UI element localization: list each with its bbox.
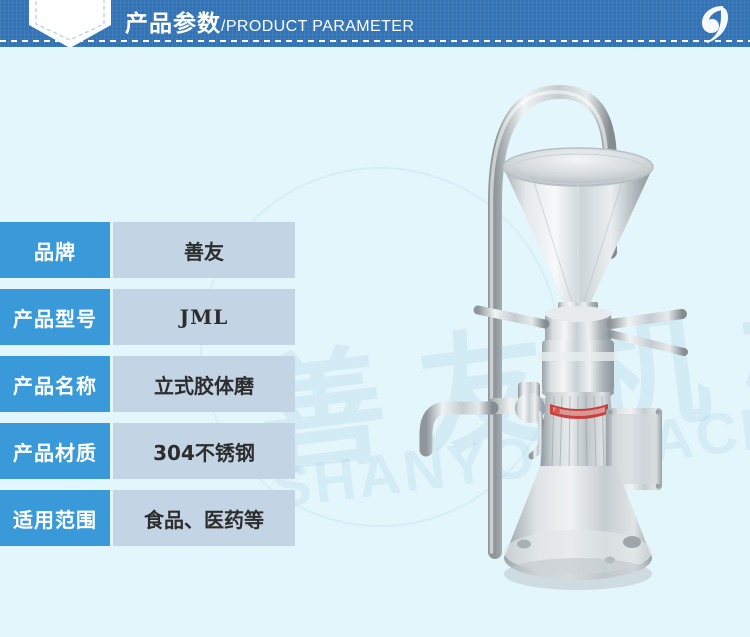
spec-value-application: 食品、医药等 [113, 490, 295, 546]
table-row: 适用范围 食品、医药等 [0, 490, 295, 546]
product-parameter-page: 产品参数/PRODUCT PARAMETER 善友机械 SHANYOU MACH… [0, 0, 750, 637]
spec-value-brand: 善友 [113, 222, 295, 278]
page-title-en: /PRODUCT PARAMETER [221, 18, 414, 35]
spec-value-model: JML [113, 289, 295, 345]
shield-dashed-outline-icon [34, 0, 106, 43]
table-row: 产品型号 JML [0, 289, 295, 345]
spec-label-application: 适用范围 [0, 490, 110, 546]
header-dashed-divider [0, 40, 750, 42]
page-header: 产品参数/PRODUCT PARAMETER [0, 0, 750, 47]
spec-value-product-name: 立式胶体磨 [113, 356, 295, 412]
table-row: 产品名称 立式胶体磨 [0, 356, 295, 412]
page-title: 产品参数/PRODUCT PARAMETER [125, 7, 414, 40]
page-title-cn: 产品参数 [125, 10, 221, 36]
spec-value-material: 304不锈钢 [113, 423, 295, 479]
table-row: 品牌 善友 [0, 222, 295, 278]
spec-table: 品牌 善友 产品型号 JML 产品名称 立式胶体磨 产品材质 304不锈钢 适用… [0, 222, 295, 557]
spec-label-brand: 品牌 [0, 222, 110, 278]
spec-label-product-name: 产品名称 [0, 356, 110, 412]
table-row: 产品材质 304不锈钢 [0, 423, 295, 479]
spec-label-material: 产品材质 [0, 423, 110, 479]
spec-label-model: 产品型号 [0, 289, 110, 345]
product-photo [400, 52, 750, 632]
